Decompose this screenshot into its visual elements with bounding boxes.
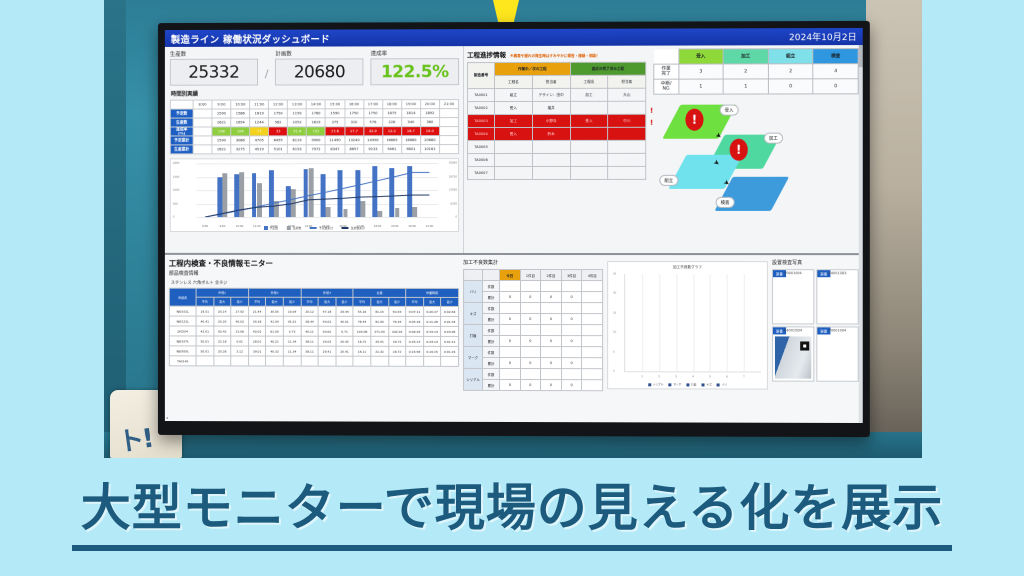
status-value: 4	[813, 64, 858, 79]
sign-text: ト!	[116, 418, 155, 458]
insp-cell: 29.02	[318, 336, 335, 346]
insp-cell: 29.41	[318, 346, 335, 356]
insp-cell: 0:05:18	[406, 316, 424, 326]
table-row: 作業完了3224	[654, 64, 858, 80]
defect-value: 0	[561, 336, 582, 347]
process-cur-step: 組立	[495, 88, 533, 101]
insp-cell: 0:03:05	[441, 326, 459, 336]
insp-cell: 42.01	[196, 326, 213, 336]
hourly-cell: 16865	[382, 136, 401, 145]
parts-inspection-panel: 工程内検査・不良情報モニター 部品検査情報 ステンレス 六角ボルト 全ネジ 商品…	[169, 258, 459, 419]
insp-cell	[318, 356, 335, 366]
hourly-cell: 1621	[212, 118, 231, 127]
defect-value	[500, 324, 521, 335]
insp-cell: 0:25:14	[406, 336, 424, 346]
hourly-cell: 8347	[326, 145, 345, 154]
hourly-cell: 10161	[420, 145, 439, 154]
insp-cell	[406, 356, 424, 366]
photo-number: P0001004	[817, 328, 857, 332]
hourly-section-label: 時間別実績	[171, 89, 459, 98]
table-row: TA0007	[468, 166, 646, 179]
table-row: 累計0000	[464, 335, 603, 346]
insp-cell: 0:33:14	[423, 326, 441, 336]
defect-chart-x-tick: 7	[743, 376, 745, 379]
legend-item: マーク	[668, 382, 681, 386]
table-row: 累計0000	[464, 291, 603, 302]
hourly-cell: 18680	[401, 136, 420, 145]
defect-value: 0	[520, 358, 541, 369]
hourly-body: 予定数1500158616191750115017801590175017501…	[170, 109, 458, 154]
defect-value	[520, 303, 541, 314]
status-body: 作業完了3224中断/NG1100	[654, 64, 858, 95]
hourly-cell: 1780	[307, 109, 326, 118]
hourly-hour-header: 12:00	[269, 100, 288, 109]
defect-chart-y-tick: 15	[613, 311, 616, 314]
alert-icon-machining: !	[730, 139, 748, 161]
insp-cell: 40.02	[231, 316, 248, 326]
process-col-cur-person: 担当者	[532, 75, 570, 88]
process-id: TA0002	[468, 102, 495, 115]
defect-value	[561, 347, 582, 358]
insp-cell	[353, 356, 371, 366]
process-title: 工程進捗情報	[467, 49, 506, 59]
flow-label-assembly: 組立	[659, 175, 678, 186]
insp-cell: 3.12	[231, 346, 248, 356]
insp-part-name: TA0140	[169, 356, 196, 366]
insp-cell: 271.00	[371, 326, 389, 336]
defect-value	[582, 336, 603, 347]
hourly-hour-header: 16:00	[344, 100, 363, 109]
table-row: NJ0121L40.4120.2040.0230.1841.0435.2128.…	[169, 316, 458, 326]
hourly-cell: 9900	[307, 136, 326, 145]
defect-value: 0	[561, 314, 582, 325]
legend-swatch	[264, 226, 268, 230]
defect-value: 0	[520, 292, 541, 303]
defect-col-header: 3件目	[561, 270, 582, 281]
insp-sub-header: 最少	[231, 297, 248, 306]
insp-cell	[231, 356, 248, 366]
inspection-sub-header-row: 平均最大最少平均最大最少平均最大最少平均最大最少平均最大最少	[169, 297, 458, 306]
insp-cell	[283, 356, 300, 366]
insp-cell: 47.18	[318, 306, 335, 316]
legend-item: 生産数	[287, 226, 301, 230]
photo-cell[interactable]: 製番P0001004	[816, 326, 858, 381]
photo-cell[interactable]: 製番R40015D4	[772, 326, 814, 381]
insp-group-header: 作業時間	[406, 288, 459, 297]
hourly-cell: 14990	[363, 136, 382, 145]
defect-value	[582, 369, 603, 380]
insp-cell: 78.44	[353, 316, 371, 326]
defect-value: 0	[561, 380, 582, 391]
process-done-step	[570, 127, 608, 140]
process-cur-step	[495, 140, 533, 153]
process-cur-person: 鈴木	[532, 127, 570, 140]
kpi-rate-value: 122.5%	[381, 62, 449, 82]
vertical-scrollbar[interactable]	[859, 45, 863, 423]
chart-lines	[197, 163, 439, 217]
hourly-hour-header: 20:00	[420, 100, 439, 109]
defect-value: 0	[500, 379, 521, 390]
kpi-row: 生産数 25332 / 計画数 20680 達成率	[170, 49, 459, 86]
insp-cell	[441, 356, 459, 366]
process-cur-step	[495, 153, 533, 166]
insp-cell: 40.21	[266, 336, 283, 346]
hourly-cell: 108	[212, 127, 231, 136]
legend-item: キズ	[701, 382, 711, 386]
process-cur-step	[495, 166, 533, 179]
dashboard-top-section: 生産数 25332 / 計画数 20680 達成率	[165, 45, 863, 253]
status-value: 2	[723, 64, 768, 79]
insp-cell: 21.44	[248, 306, 265, 316]
hourly-cell: 1654	[231, 118, 250, 127]
defect-chart-x-tick: 3	[675, 375, 677, 378]
defect-chart-y-tick: 0	[613, 370, 615, 373]
defect-subrow-label: 件数	[483, 368, 500, 379]
process-cur-person	[532, 153, 570, 166]
photo-cell[interactable]: 製番R40013D3	[816, 269, 858, 324]
hourly-cell: 310	[344, 118, 363, 127]
defect-chart-x-tick: 2	[658, 375, 660, 378]
insp-part-name: NJ0101L	[169, 306, 196, 316]
hourly-cell: 340	[401, 118, 420, 127]
defect-value	[541, 347, 562, 358]
insp-cell: 19.04	[283, 306, 300, 316]
insp-cell: 18.72	[353, 336, 371, 346]
production-column: 生産数 25332 / 計画数 20680 達成率	[165, 46, 463, 253]
status-value: 1	[678, 79, 723, 94]
process-cur-person: 小野寺	[532, 114, 570, 127]
defect-category: キズ	[464, 302, 483, 324]
defect-value	[500, 368, 521, 379]
defect-col-header: 4件目	[582, 270, 603, 281]
process-done-person	[608, 166, 646, 179]
insp-cell: 20.14	[213, 306, 230, 316]
defect-value: 0	[561, 358, 582, 369]
hourly-cell: 20680	[420, 136, 439, 145]
defect-count-table: 今日1件目2件目3件目4件目 バリ件数累計0000キズ件数累計0000打痕件数累…	[463, 269, 603, 391]
defect-chart-x-tick: 5	[709, 375, 711, 378]
hourly-cell: 104	[231, 127, 250, 136]
hourly-hour-header: 8:00	[193, 100, 212, 109]
defect-value	[582, 303, 603, 314]
qr-code-icon	[800, 341, 809, 350]
photograph-of-monitor: ト! 製造ライン 稼働状況ダッシュボード 2024年10月2日 生産数 2533…	[104, 0, 922, 458]
kpi-production-value: 25332	[188, 62, 239, 82]
hourly-cell	[439, 127, 458, 136]
hourly-cell: 1586	[231, 109, 250, 118]
inspection-table-body: NJ0101L19.5120.1417.9221.4430.0519.0420.…	[169, 306, 458, 366]
table-row: TA0005	[468, 140, 646, 153]
hourly-cell: 1052	[288, 118, 307, 127]
hourly-hour-header: 11:00	[250, 100, 269, 109]
process-done-step	[570, 140, 608, 153]
defect-subrow-label: 件数	[483, 302, 500, 313]
legend-swatch	[686, 383, 689, 386]
hourly-hour-header: 21:00	[439, 100, 458, 109]
status-value: 2	[768, 64, 813, 79]
insp-cell: 0:06:44	[406, 326, 424, 336]
defect-chart-y-tick: 10	[613, 331, 616, 334]
hourly-cell: 9233	[363, 145, 382, 154]
hourly-cell: 19.0	[420, 127, 439, 136]
table-row: 累計0000	[464, 357, 603, 368]
defect-value: 0	[541, 336, 562, 347]
defect-value	[561, 281, 582, 292]
insp-cell: 13.06	[231, 326, 248, 336]
table-row: 生産数1621165412445821052181937531057622834…	[170, 118, 458, 127]
chart-legend: 予定数生産数予定数累計生産数累計	[171, 226, 458, 230]
insp-cell: 109.08	[353, 326, 371, 336]
process-done-step: 受入	[570, 114, 608, 127]
process-table-body: TA0001組立デザイン：田中加工大山TA0002受入福井TA0003加工小野寺…	[468, 88, 646, 179]
hourly-cell: 375	[326, 118, 345, 127]
insp-cell: 50.44	[388, 306, 406, 316]
insp-part-name: NJ0505L	[169, 346, 196, 356]
photo-cell[interactable]: 製番P0001004	[772, 269, 814, 324]
insp-cell: 22.18	[213, 336, 230, 346]
caption-underline	[72, 545, 952, 551]
hourly-row-label: 生産数	[170, 118, 193, 127]
table-row: 達成率(%)108104773391.410223.617.732.912.21…	[170, 127, 458, 136]
defect-value: 0	[520, 314, 541, 325]
defect-value	[561, 369, 582, 380]
insp-cell: 11.34	[283, 346, 300, 356]
scroll-corner-icon[interactable]: ◂	[166, 415, 168, 420]
insp-cell: 0:15:58	[406, 346, 424, 356]
insp-cell	[301, 356, 318, 366]
hourly-cell: 1750	[344, 109, 363, 118]
defect-value	[541, 325, 562, 336]
process-cur-step: 受入	[495, 127, 533, 140]
defect-value	[582, 347, 603, 358]
process-cur-person: デザイン：田中	[532, 88, 570, 101]
table-row: NJ0107L50.0122.180.0128.0140.2111.3438.1…	[169, 336, 458, 346]
process-done-person	[608, 140, 646, 153]
defect-subrow-label: 累計	[483, 379, 500, 390]
process-cur-step: 受入	[495, 101, 533, 114]
process-done-step: 加工	[570, 88, 608, 101]
defect-value: 0	[541, 380, 562, 391]
defect-title: 加工不良数集計	[463, 259, 603, 266]
status-value: 1	[723, 79, 768, 94]
defect-value: 0	[520, 380, 541, 391]
hourly-cell	[193, 127, 212, 136]
insp-cell	[248, 356, 265, 366]
insp-cell: 40.02	[248, 326, 265, 336]
kpi-rate: 達成率 122.5%	[371, 49, 459, 85]
defect-value	[541, 369, 562, 380]
table-row: TA0004受入鈴木	[468, 127, 646, 140]
table-row: NJ0505L50.0120.283.1239.0140.3211.3438.1…	[169, 346, 458, 357]
table-row: キズ件数	[464, 302, 603, 313]
dashboard-header: 製造ライン 稼働状況ダッシュボード 2024年10月2日	[165, 28, 863, 47]
dashboard-bottom-section: 工程内検査・不良情報モニター 部品検査情報 ステンレス 六角ボルト 全ネジ 商品…	[165, 255, 863, 423]
defect-value	[582, 358, 603, 369]
process-id: TA0007	[468, 167, 495, 180]
photos-title: 設置検査写真	[772, 259, 859, 266]
insp-cell: 61.00	[266, 326, 283, 336]
table-row: TA0002受入福井	[468, 101, 646, 114]
insp-cell: 0:01:15	[441, 346, 459, 356]
hourly-cell: 7972	[307, 145, 326, 154]
process-progress-column: 工程進捗情報 ※異常や遅れの発生時はすみやかに報告・連絡・相談！ 製造番号 作業…	[463, 46, 649, 253]
hourly-cell: 102	[307, 127, 326, 136]
status-col-2: 組立	[768, 49, 813, 64]
insp-cell	[388, 356, 406, 366]
process-group-current: 作業中／次の工程	[495, 62, 571, 75]
hourly-cell: 1244	[250, 118, 269, 127]
insp-sub-header: 最大	[318, 297, 335, 306]
defect-subrow-label: 件数	[483, 280, 500, 291]
hourly-cell	[439, 109, 458, 118]
photo-grid: 製番P0001004製番R40013D3製番R40015D4製番P0001004	[772, 269, 859, 382]
defect-subrow-label: 累計	[483, 335, 500, 346]
legend-swatch	[648, 383, 651, 386]
table-row: 累計0000	[464, 313, 603, 324]
defect-category: マーク	[464, 346, 483, 368]
chart-plot-area: 2500018750125006250020001500100050008:00…	[197, 163, 439, 217]
large-monitor-bezel: 製造ライン 稼働状況ダッシュボード 2024年10月2日 生産数 25332 /…	[158, 21, 870, 437]
defect-col-header: 2件目	[541, 270, 562, 281]
insp-cell: 0:01:11	[441, 336, 459, 346]
process-done-person: 中川	[608, 114, 646, 127]
defect-value	[582, 380, 603, 391]
hourly-cell	[193, 145, 212, 154]
flow-label-inspection: 検査	[716, 197, 735, 208]
defect-chart-title: 加工不良数グラフ	[608, 265, 767, 270]
defect-col-header: 1件目	[520, 270, 541, 281]
insp-cell: 19.51	[196, 306, 213, 316]
defect-subrow-label: 累計	[483, 357, 500, 368]
hourly-cell: 228	[382, 118, 401, 127]
defect-category: 打痕	[464, 324, 483, 346]
kpi-plan-box: 20680	[275, 58, 363, 85]
defect-value	[582, 292, 603, 303]
insp-group-header: 外径3	[301, 288, 353, 297]
hourly-cell: 8657	[344, 145, 363, 154]
inspection-table: 商品名外径1外径2外径3全長作業時間 平均最大最少平均最大最少平均最大最少平均最…	[169, 288, 459, 367]
defect-value	[500, 280, 521, 291]
insp-cell: 28.01	[248, 336, 265, 346]
insp-cell: 40.02	[318, 316, 335, 326]
status-column: 受入加工組立検査 作業完了3224中断/NG1100 ! ! ➤ ➤	[649, 45, 863, 253]
hourly-cell: 1750	[269, 109, 288, 118]
process-id: TA0001	[468, 89, 495, 102]
table-row: TA0001組立デザイン：田中加工大山	[468, 88, 646, 101]
hourly-cell: 12.2	[382, 127, 401, 136]
insp-part-name: NJ0121L	[169, 316, 196, 326]
process-cur-person	[532, 166, 570, 179]
insp-cell: 18.72	[388, 346, 406, 356]
hourly-hour-header: 9:00	[212, 100, 231, 109]
insp-cell: 18.11	[353, 346, 371, 356]
hourly-cell: 360	[420, 118, 439, 127]
insp-group-header: 外径1	[196, 288, 248, 297]
process-sub-header-row: 工程名 担当者 工程名 担当者	[468, 75, 646, 88]
hourly-cell	[439, 118, 458, 127]
flow-label-receiving: 受入	[720, 105, 739, 116]
table-row: TA0003加工小野寺受入中川	[468, 114, 646, 127]
hourly-cell: 4705	[250, 136, 269, 145]
legend-swatch	[287, 226, 291, 230]
status-col-1: 加工	[723, 49, 768, 64]
defect-chart-x-tick: 6	[726, 375, 728, 378]
hourly-hour-header: 18:00	[382, 100, 401, 109]
insp-cell: 0:19:15	[423, 346, 441, 356]
insp-cell: 30.01	[336, 316, 354, 326]
insp-sub-header: 最少	[388, 297, 406, 306]
process-progress-table: 製造番号 作業中／次の工程 直近の完了済み工程 工程名 担当者 工程名 担当者 …	[467, 62, 646, 180]
flow-label-machining: 加工	[764, 133, 783, 144]
defect-value	[582, 325, 603, 336]
defect-value	[520, 281, 541, 292]
table-row: バリ件数	[464, 280, 603, 291]
hourly-row-label: 達成率(%)	[170, 127, 193, 136]
insp-cell: 30.05	[266, 306, 283, 316]
insp-cell: 40.32	[266, 346, 283, 356]
insp-cell	[423, 356, 441, 366]
defect-value	[541, 303, 562, 314]
hourly-row-label: 予定累計	[170, 136, 193, 145]
hourly-cell: 4519	[250, 145, 269, 154]
status-row-label: 作業完了	[654, 64, 679, 79]
insp-sub-header: 最少	[283, 297, 300, 306]
insp-cell: 20.42	[336, 336, 354, 346]
hourly-cell: 1619	[250, 109, 269, 118]
table-row: JX020442.0150.4313.0640.0261.003.7340.11…	[169, 326, 458, 336]
process-id: TA0005	[468, 141, 495, 154]
hourly-cell: 1150	[288, 109, 307, 118]
insp-sub-header: 最少	[336, 297, 354, 306]
status-header-row: 受入加工組立検査	[654, 49, 858, 65]
insp-sub-header: 最大	[213, 297, 230, 306]
status-value: 0	[768, 79, 813, 94]
process-done-person	[608, 101, 646, 114]
wall-right-column	[866, 0, 922, 458]
legend-swatch	[342, 227, 349, 228]
hourly-cell: 91.4	[288, 127, 307, 136]
insp-cell: 39.01	[248, 346, 265, 356]
insp-cell: 50.43	[213, 326, 230, 336]
insp-cell: 29.44	[336, 306, 354, 316]
process-done-step	[570, 101, 608, 114]
defect-value: 0	[520, 336, 541, 347]
part-name-label: ステンレス 六角ボルト 全ネジ	[171, 280, 459, 286]
defect-category: シリアル	[464, 368, 483, 390]
hourly-cell: 6153	[288, 145, 307, 154]
insp-cell: 38.11	[301, 346, 318, 356]
defect-value	[582, 281, 603, 292]
scrollbar-thumb[interactable]	[859, 45, 863, 67]
insp-cell: 35.21	[283, 316, 300, 326]
process-col-cur-step: 工程名	[495, 75, 533, 88]
status-value: 0	[813, 79, 858, 94]
defect-value: 0	[500, 291, 521, 302]
hourly-row-label: 生産累計	[170, 145, 193, 154]
defect-value: 0	[500, 357, 521, 368]
hourly-cell: 77	[250, 127, 269, 136]
hourly-cell: 32.9	[363, 127, 382, 136]
process-done-step	[570, 166, 608, 179]
legend-item: バリ	[717, 382, 727, 386]
caption-band: 大型モニターで現場の見える化を展示	[0, 458, 1024, 576]
kpi-plan-value: 20680	[294, 62, 345, 82]
insp-part-name: JX0204	[169, 326, 196, 336]
insp-cell: 50.01	[196, 346, 213, 356]
caption-text: 大型モニターで現場の見える化を展示	[81, 483, 944, 533]
hourly-results-table: 8:009:0010:0011:0012:0013:0014:0015:0016…	[170, 99, 459, 154]
kpi-separator: /	[265, 50, 269, 86]
